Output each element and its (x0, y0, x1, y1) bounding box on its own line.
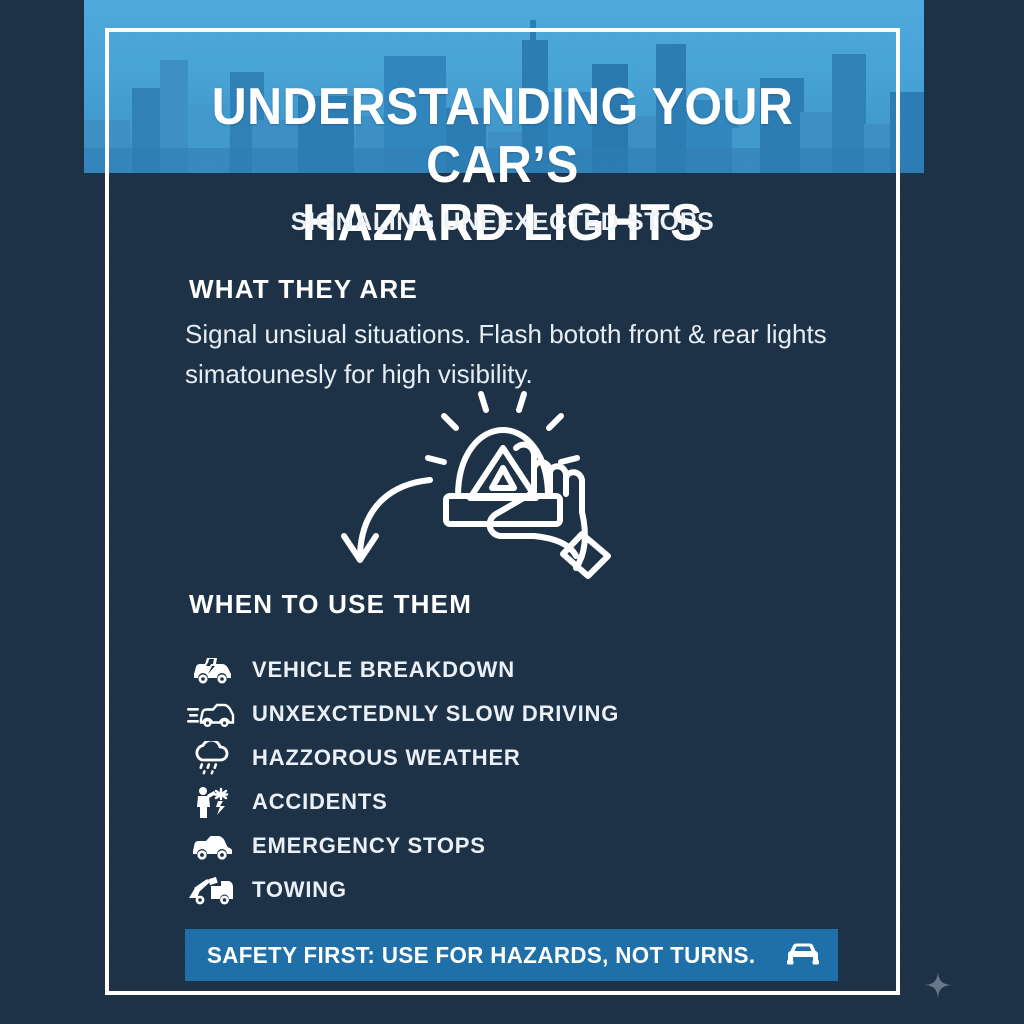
car-front-icon (784, 942, 822, 968)
list-item-label: ACCIDENTS (252, 789, 388, 815)
list-item-label: TOWING (252, 877, 347, 903)
sparkle-icon (925, 972, 951, 998)
list-item: ACCIDENTS (186, 780, 786, 824)
broken-car-icon (186, 650, 238, 690)
list-item-label: EMERGENCY STOPS (252, 833, 486, 859)
list-item: TOWING (186, 868, 786, 912)
crash-impact-person-icon (186, 782, 238, 822)
list-item-label: UNXEXCTEDNLY SLOW DRIVING (252, 701, 619, 727)
pointing-hand-icon (490, 445, 608, 576)
infographic-poster: UNDERSTANDING YOUR CAR’S HAZARD LIGHTS S… (0, 0, 1024, 1024)
list-item: EMERGENCY STOPS (186, 824, 786, 868)
tow-truck-icon (186, 870, 238, 910)
list-item-label: VEHICLE BREAKDOWN (252, 657, 515, 683)
list-item: HAZZOROUS WEATHER (186, 736, 786, 780)
list-item: VEHICLE BREAKDOWN (186, 648, 786, 692)
list-item: UNXEXCTEDNLY SLOW DRIVING (186, 692, 786, 736)
title-line-1: UNDERSTANDING YOUR CAR’S (133, 78, 872, 194)
when-to-use-list: VEHICLE BREAKDOWN UNXEXCTEDNLY SLOW DRIV… (186, 648, 786, 912)
car-side-icon (186, 826, 238, 866)
safety-banner: SAFETY FIRST: USE FOR HAZARDS, NOT TURNS… (185, 929, 838, 981)
section-heading-when-to-use: WHEN TO USE THEM (189, 589, 472, 620)
warning-triangle-icon (470, 448, 536, 498)
safety-banner-text: SAFETY FIRST: USE FOR HAZARDS, NOT TURNS… (207, 942, 755, 969)
rain-cloud-icon (186, 738, 238, 778)
slow-car-speed-lines-icon (186, 694, 238, 734)
what-they-are-body: Signal unsiual situations. Flash bototh … (185, 314, 845, 394)
page-subtitle: SIGNALING UNEEXECTED STOPS (105, 208, 900, 237)
hazard-button-press-illustration (320, 388, 665, 593)
curved-arrow-icon (344, 480, 430, 560)
list-item-label: HAZZOROUS WEATHER (252, 745, 521, 771)
section-heading-what-they-are: WHAT THEY ARE (189, 274, 418, 305)
